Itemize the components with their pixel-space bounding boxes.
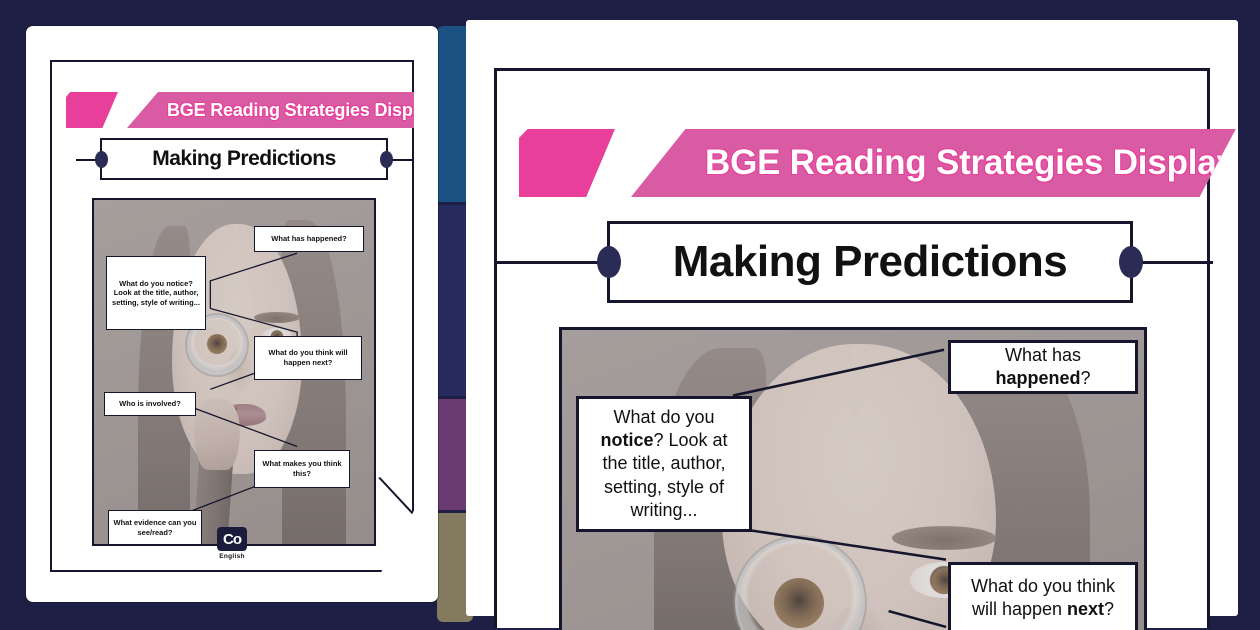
co-logo-wordmark: English [217, 553, 247, 560]
plate-knob-right-icon-large [1119, 246, 1143, 278]
poster-page-small: BGE Reading Strategies Display Making Pr… [50, 60, 414, 572]
banner-fold-icon-large [523, 197, 547, 215]
callout-next: What do you think will happen next? [254, 336, 362, 380]
callout-next-large: What do you think will happen next? [948, 562, 1138, 630]
poster-page-large: BGE Reading Strategies Display Making Pr… [494, 68, 1210, 628]
callout-makes-you-think: What makes you think this? [254, 450, 350, 488]
title-rail-left-large [497, 261, 613, 264]
poster-preview-card[interactable]: BGE Reading Strategies Display Making Pr… [466, 20, 1238, 616]
callout-notice: What do you notice? Look at the title, a… [106, 256, 206, 330]
poster-title-plate-large: Making Predictions [607, 221, 1133, 303]
banner-title-text-large: BGE Reading Strategies Display [705, 143, 1236, 183]
poster-title-plate: Making Predictions [100, 138, 388, 180]
co-logo-mark-icon: Co [217, 527, 247, 551]
plate-knob-right-icon [380, 151, 393, 168]
banner-fold-icon [68, 128, 81, 138]
callout-notice-large: What do you notice? Look at the title, a… [576, 396, 752, 532]
display-banner: BGE Reading Strategies Display [66, 92, 386, 128]
banner-ribbon-shape-large: BGE Reading Strategies Display [631, 129, 1236, 197]
poster-thumbnail-card[interactable]: BGE Reading Strategies Display Making Pr… [26, 26, 438, 602]
plate-knob-left-icon [95, 151, 108, 168]
banner-tab-shape-large [519, 129, 615, 197]
poster-title-text-large: Making Predictions [673, 237, 1067, 287]
poster-photo-small: What has happened? What do you notice? L… [92, 198, 376, 546]
callout-involved: Who is involved? [104, 392, 196, 416]
banner-title-text: BGE Reading Strategies Display [167, 100, 437, 121]
screenshot-stage: BGE Reading Strategies Display Making Pr… [0, 0, 1260, 630]
plate-knob-left-icon-large [597, 246, 621, 278]
banner-ribbon-shape: BGE Reading Strategies Display [127, 92, 437, 128]
callout-happened: What has happened? [254, 226, 364, 252]
page-dogear-line [378, 477, 416, 518]
callout-evidence: What evidence can you see/read? [108, 510, 202, 546]
banner-tab-shape [66, 92, 118, 128]
poster-photo-large: What has happened? What do you notice? L… [559, 327, 1147, 630]
callout-happened-large: What has happened? [948, 340, 1138, 394]
display-banner-large: BGE Reading Strategies Display [519, 129, 1161, 197]
co-english-logo: Co English [217, 527, 247, 560]
poster-title-text: Making Predictions [152, 147, 336, 171]
